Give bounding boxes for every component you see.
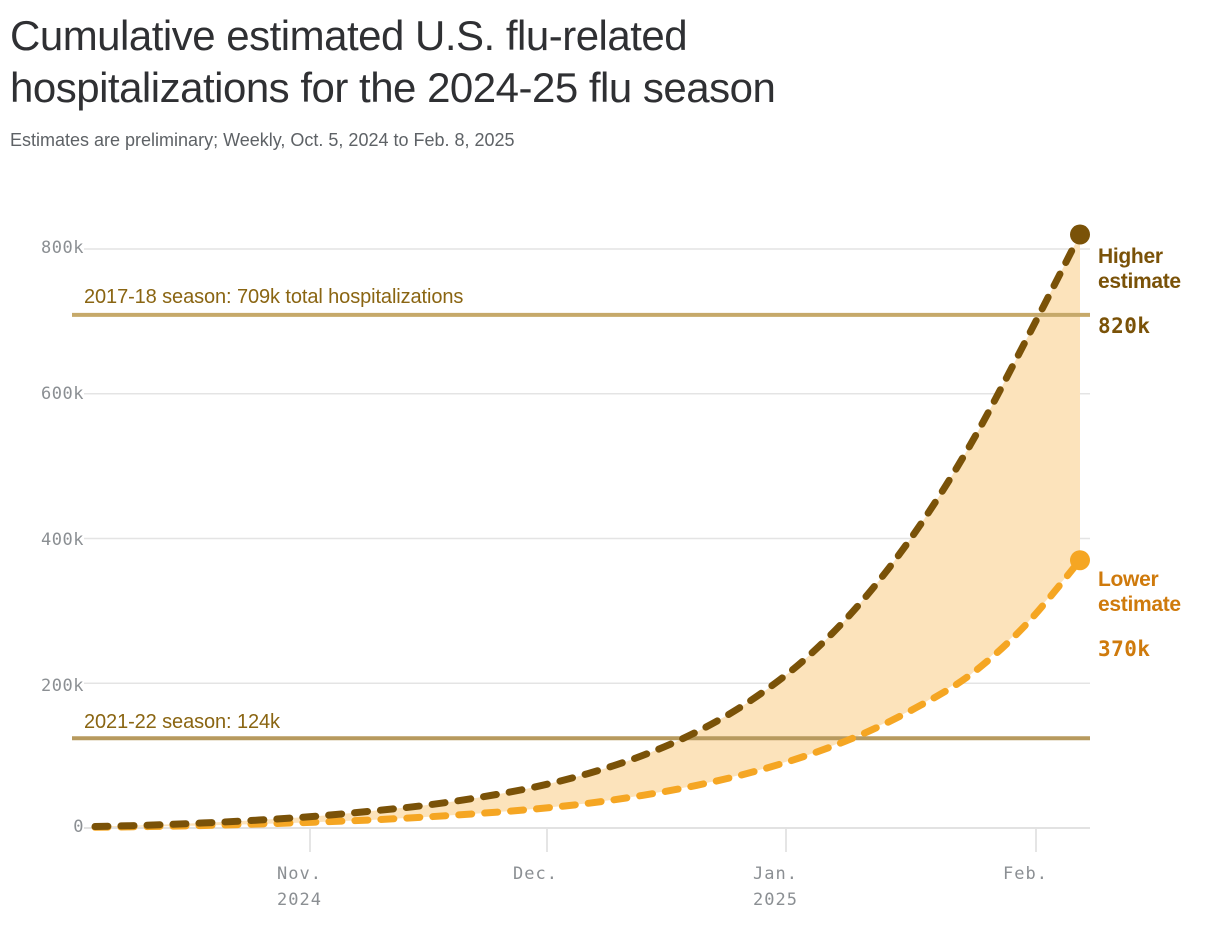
estimate-range-band <box>95 235 1080 828</box>
page-title: Cumulative estimated U.S. flu-related ho… <box>10 10 1210 114</box>
annotation-2021-22-season: 2021-22 season: 124k <box>84 711 280 734</box>
endpoint-dot-higher <box>1070 225 1090 245</box>
estimate-range-fill <box>95 235 1080 828</box>
x-tick-label-feb: Feb. <box>1003 861 1048 887</box>
series-lines <box>95 235 1080 828</box>
series-label-lower-value: 370k <box>1098 635 1220 663</box>
series-label-higher-value: 820k <box>1098 312 1220 340</box>
x-tick-label-dec: Dec. <box>513 861 558 887</box>
x-tick-marks <box>310 829 1036 852</box>
y-tick-label-0: 0 <box>73 817 84 837</box>
y-tick-label-200k: 200k <box>41 676 84 696</box>
reference-lines <box>72 315 1090 738</box>
chart-header: Cumulative estimated U.S. flu-related ho… <box>10 10 1210 152</box>
series-endpoint-dots <box>1070 225 1090 571</box>
series-line-higher <box>95 235 1080 827</box>
series-line-lower <box>95 560 1080 827</box>
series-label-higher-estimate: Higher estimate 820k <box>1098 226 1220 358</box>
series-label-lower-estimate: Lower estimate 370k <box>1098 549 1220 681</box>
x-tick-label-nov: Nov. 2024 <box>277 861 322 913</box>
x-tick-label-jan: Jan. 2025 <box>753 861 798 913</box>
chart-page: Cumulative estimated U.S. flu-related ho… <box>0 0 1220 926</box>
y-tick-label-600k: 600k <box>41 384 84 404</box>
series-label-lower-name: Lower estimate <box>1098 567 1220 617</box>
series-label-higher-name: Higher estimate <box>1098 244 1220 294</box>
gridlines <box>84 249 1090 828</box>
endpoint-dot-lower <box>1070 550 1090 570</box>
y-tick-label-400k: 400k <box>41 530 84 550</box>
chart-subtitle: Estimates are preliminary; Weekly, Oct. … <box>10 128 1210 152</box>
y-tick-label-800k: 800k <box>41 238 84 258</box>
annotation-2017-18-season: 2017-18 season: 709k total hospitalizati… <box>84 286 463 309</box>
